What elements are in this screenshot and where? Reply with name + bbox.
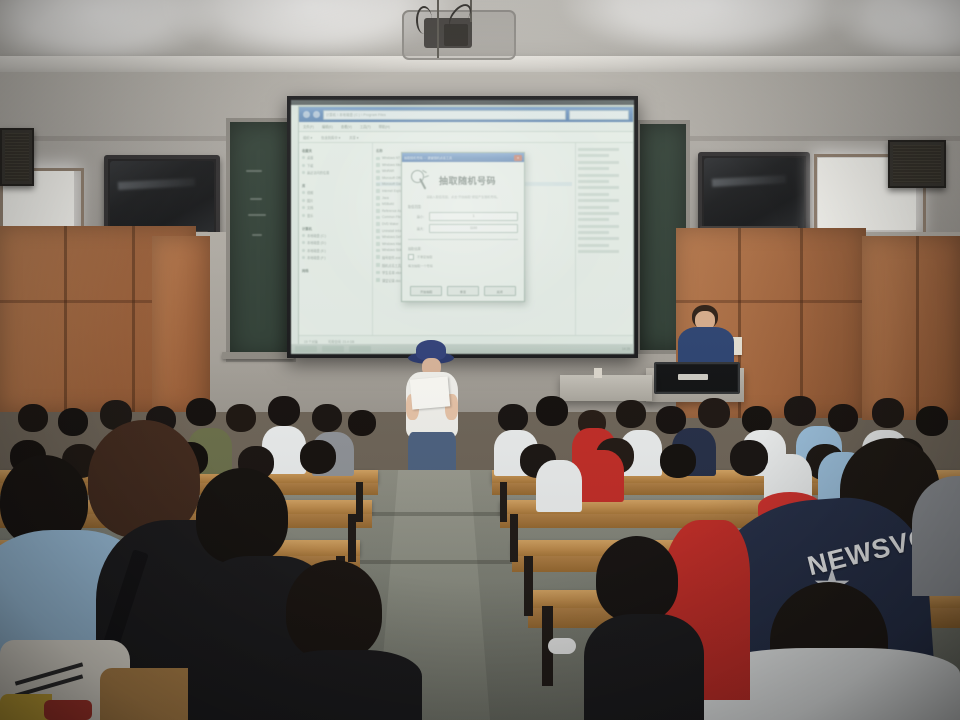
reset-button[interactable]: 重置	[447, 286, 479, 296]
bag-accent-2	[44, 700, 92, 720]
field-label-max: 最大:	[408, 226, 424, 231]
nav-item-desktop[interactable]: 桌面	[302, 155, 369, 160]
toolbar-organize[interactable]: 组织 ▾	[303, 135, 312, 140]
projection-screen: 计算机 \ 本地磁盘 (C:) \ Program Files 文件(F) 编辑…	[287, 96, 638, 358]
detail-line	[578, 186, 619, 189]
dialog-title-bar[interactable]: 抽取随机号码 — 课堂随机点名工具 ✕	[402, 153, 524, 162]
dialog-hint-label: 每次抽取一个号码	[408, 263, 433, 268]
nav-head-favorites: 收藏夹	[302, 148, 369, 153]
student-head	[730, 440, 768, 476]
student-head	[348, 410, 376, 436]
detail-line	[578, 244, 609, 247]
dialog-section-label: 取值范围:	[402, 199, 524, 210]
checkbox-no-repeat[interactable]	[408, 254, 414, 260]
seat-leg	[348, 514, 356, 562]
nav-item-music[interactable]: 音乐	[302, 213, 369, 218]
menu-item-file[interactable]: 文件(F)	[303, 124, 314, 129]
forward-icon[interactable]	[313, 111, 320, 118]
detail-line	[578, 180, 609, 183]
nav-item-documents[interactable]: 文档	[302, 205, 369, 210]
wood-panel-left-2	[152, 236, 210, 412]
close-icon[interactable]: ✕	[514, 155, 522, 161]
reset-label: 重置	[460, 289, 466, 294]
speaker-grille-right	[893, 145, 941, 183]
chalk-mark-3	[248, 214, 266, 216]
nav-item-drive-e[interactable]: 本地磁盘 (E:)	[302, 248, 369, 253]
board-tray-left	[222, 352, 294, 359]
start-draw-button[interactable]: 开始抽取	[410, 286, 442, 296]
wood-seam-r3	[916, 236, 919, 420]
foreground-head	[196, 468, 288, 564]
blackboard-left	[226, 118, 296, 362]
explorer-title-bar[interactable]: 计算机 \ 本地磁盘 (C:) \ Program Files	[299, 107, 633, 122]
dialog-title-text: 抽取随机号码 — 课堂随机点名工具	[404, 155, 452, 160]
detail-line	[578, 174, 619, 177]
search-input[interactable]	[569, 110, 629, 120]
nav-group-favorites: 收藏夹 桌面 下载 最近访问的位置	[302, 148, 369, 175]
dialog-checkbox-row[interactable]: 不重复抽取	[402, 252, 524, 261]
wood-seam-l2	[132, 226, 135, 412]
input-min[interactable]: 1	[429, 212, 518, 221]
student-head	[784, 396, 816, 426]
seat-leg	[500, 482, 507, 522]
detail-line	[578, 206, 609, 209]
front-desk-ledge	[560, 375, 652, 401]
dialog-hint-row: 每次抽取一个号码	[402, 261, 524, 269]
close-button[interactable]: 关闭	[484, 286, 516, 296]
foreground-torso	[584, 614, 704, 720]
seat-leg	[524, 556, 533, 616]
detail-line	[578, 167, 609, 170]
explorer-toolbar[interactable]: 组织 ▾ 包含到库中 ▾ 共享 ▾	[299, 132, 633, 143]
explorer-menu-bar[interactable]: 文件(F) 编辑(E) 查看(V) 工具(T) 帮助(H)	[299, 122, 633, 132]
projector-mount-rod	[437, 0, 439, 58]
wood-seam-rh	[676, 300, 866, 303]
magnifier-icon	[408, 169, 434, 191]
nav-head-network: 网络	[302, 268, 369, 273]
taskbar-item[interactable]	[349, 346, 371, 352]
tv-screen-right	[704, 158, 804, 230]
nav-group-libraries: 库 视频 图片 文档 音乐	[302, 183, 369, 218]
student-head	[536, 396, 568, 426]
student-head	[916, 406, 948, 436]
dialog-field-max[interactable]: 最大: 1100	[402, 222, 524, 234]
student-head	[186, 398, 216, 426]
dialog-field-min[interactable]: 最小: 1	[402, 210, 524, 222]
navigation-pane[interactable]: 收藏夹 桌面 下载 最近访问的位置 库 视频 图片 文档 音乐	[299, 143, 373, 348]
student-head	[58, 408, 88, 436]
menu-item-help[interactable]: 帮助(H)	[379, 124, 390, 129]
taskbar-clock: 14:26	[622, 347, 630, 351]
nav-group-computer: 计算机 本地磁盘 (C:) 本地磁盘 (D:) 本地磁盘 (E:) 本地磁盘 (…	[302, 226, 369, 261]
student-head	[18, 404, 48, 432]
speaker-grille-left	[5, 133, 29, 181]
detail-line	[578, 161, 619, 164]
student-torso-red	[576, 450, 624, 502]
dialog-header: 抽取随机号码	[402, 162, 524, 193]
student-head	[226, 404, 256, 432]
wood-panel-right-2	[862, 236, 960, 420]
student-head	[312, 404, 342, 432]
student-torso	[536, 460, 582, 512]
student-head	[300, 440, 336, 474]
student-head	[872, 398, 904, 428]
field-label-min: 最小:	[408, 214, 424, 219]
student-head	[268, 396, 300, 426]
detail-line	[578, 193, 609, 196]
menu-item-edit[interactable]: 编辑(E)	[322, 124, 333, 129]
checkbox-label: 不重复抽取	[417, 254, 432, 259]
chalk-mark-1	[246, 170, 262, 172]
dialog-button-row: 开始抽取 重置 关闭	[402, 286, 524, 296]
input-max-value: 1100	[470, 226, 477, 230]
projector-cable	[416, 6, 432, 34]
nav-head-libraries: 库	[302, 183, 369, 188]
student-head	[616, 400, 646, 428]
input-max[interactable]: 1100	[429, 224, 518, 233]
start-draw-label: 开始抽取	[420, 289, 432, 294]
toolbar-share[interactable]: 共享 ▾	[349, 135, 358, 140]
wood-seam-l1	[64, 226, 67, 412]
nav-item-pictures[interactable]: 图片	[302, 198, 369, 203]
dialog-divider	[408, 239, 518, 240]
presenter-papers	[410, 376, 450, 409]
detail-line	[578, 225, 619, 228]
input-min-value: 1	[473, 214, 475, 218]
detail-line	[578, 212, 619, 215]
nav-head-computer: 计算机	[302, 226, 369, 231]
sparkle-2	[424, 175, 429, 178]
detail-line	[578, 199, 619, 202]
taskbar-item[interactable]	[322, 346, 344, 352]
menu-item-view[interactable]: 查看(V)	[341, 124, 352, 129]
nav-item-downloads[interactable]: 下载	[302, 163, 369, 168]
front-desk-socket	[594, 368, 602, 378]
tv-reflection-right	[712, 175, 786, 187]
address-bar[interactable]: 计算机 \ 本地磁盘 (C:) \ Program Files	[323, 110, 566, 120]
menu-item-tools[interactable]: 工具(T)	[360, 124, 371, 129]
nav-item-videos[interactable]: 视频	[302, 190, 369, 195]
student-head	[698, 398, 730, 428]
student-head	[660, 444, 696, 478]
seat-leg	[510, 514, 518, 562]
detail-line	[578, 250, 619, 253]
wood-seam-r2	[800, 228, 803, 418]
nav-item-drive-d[interactable]: 本地磁盘 (D:)	[302, 240, 369, 245]
nav-item-drive-f[interactable]: 本地磁盘 (F:)	[302, 255, 369, 260]
tv-screen-left	[110, 161, 214, 235]
detail-line	[578, 148, 619, 151]
random-number-dialog[interactable]: 抽取随机号码 — 课堂随机点名工具 ✕ 抽取随机号码 请输入取值范围，点击"开始…	[401, 152, 525, 302]
student-head	[498, 404, 528, 432]
detail-line	[578, 218, 609, 221]
taskbar-item[interactable]	[295, 346, 317, 352]
presenter-hat	[416, 340, 446, 360]
tv-reflection-left	[118, 178, 195, 190]
nav-item-recent[interactable]: 最近访问的位置	[302, 170, 369, 175]
detail-line	[578, 154, 609, 157]
shoe-white	[548, 638, 576, 654]
projected-image: 计算机 \ 本地磁盘 (C:) \ Program Files 文件(F) 编辑…	[291, 100, 634, 354]
dialog-result-label: 抽取结果:	[402, 245, 524, 252]
speaker-left	[0, 128, 34, 186]
speaker-right	[888, 140, 946, 188]
foreground-torso	[272, 650, 422, 720]
tv-right	[698, 152, 810, 236]
foreground-head	[596, 536, 678, 622]
toolbar-include-library[interactable]: 包含到库中 ▾	[321, 135, 340, 140]
chalk-mark-4	[252, 234, 262, 236]
foreground-head	[286, 560, 382, 660]
photo-scene: 计算机 \ 本地磁盘 (C:) \ Program Files 文件(F) 编辑…	[0, 0, 960, 720]
podium-nameplate	[678, 374, 708, 380]
nav-group-network: 网络	[302, 268, 369, 273]
chalk-mark-2	[250, 198, 262, 200]
dialog-heading: 抽取随机号码	[439, 174, 496, 187]
details-pane	[575, 143, 633, 348]
nav-item-drive-c[interactable]: 本地磁盘 (C:)	[302, 233, 369, 238]
close-label: 关闭	[497, 289, 503, 294]
detail-line	[578, 237, 619, 240]
screen-top-strip	[291, 100, 634, 105]
seat-leg	[356, 482, 363, 522]
back-icon[interactable]	[303, 111, 310, 118]
detail-line	[578, 231, 609, 234]
address-value: 计算机 \ 本地磁盘 (C:) \ Program Files	[326, 112, 386, 117]
